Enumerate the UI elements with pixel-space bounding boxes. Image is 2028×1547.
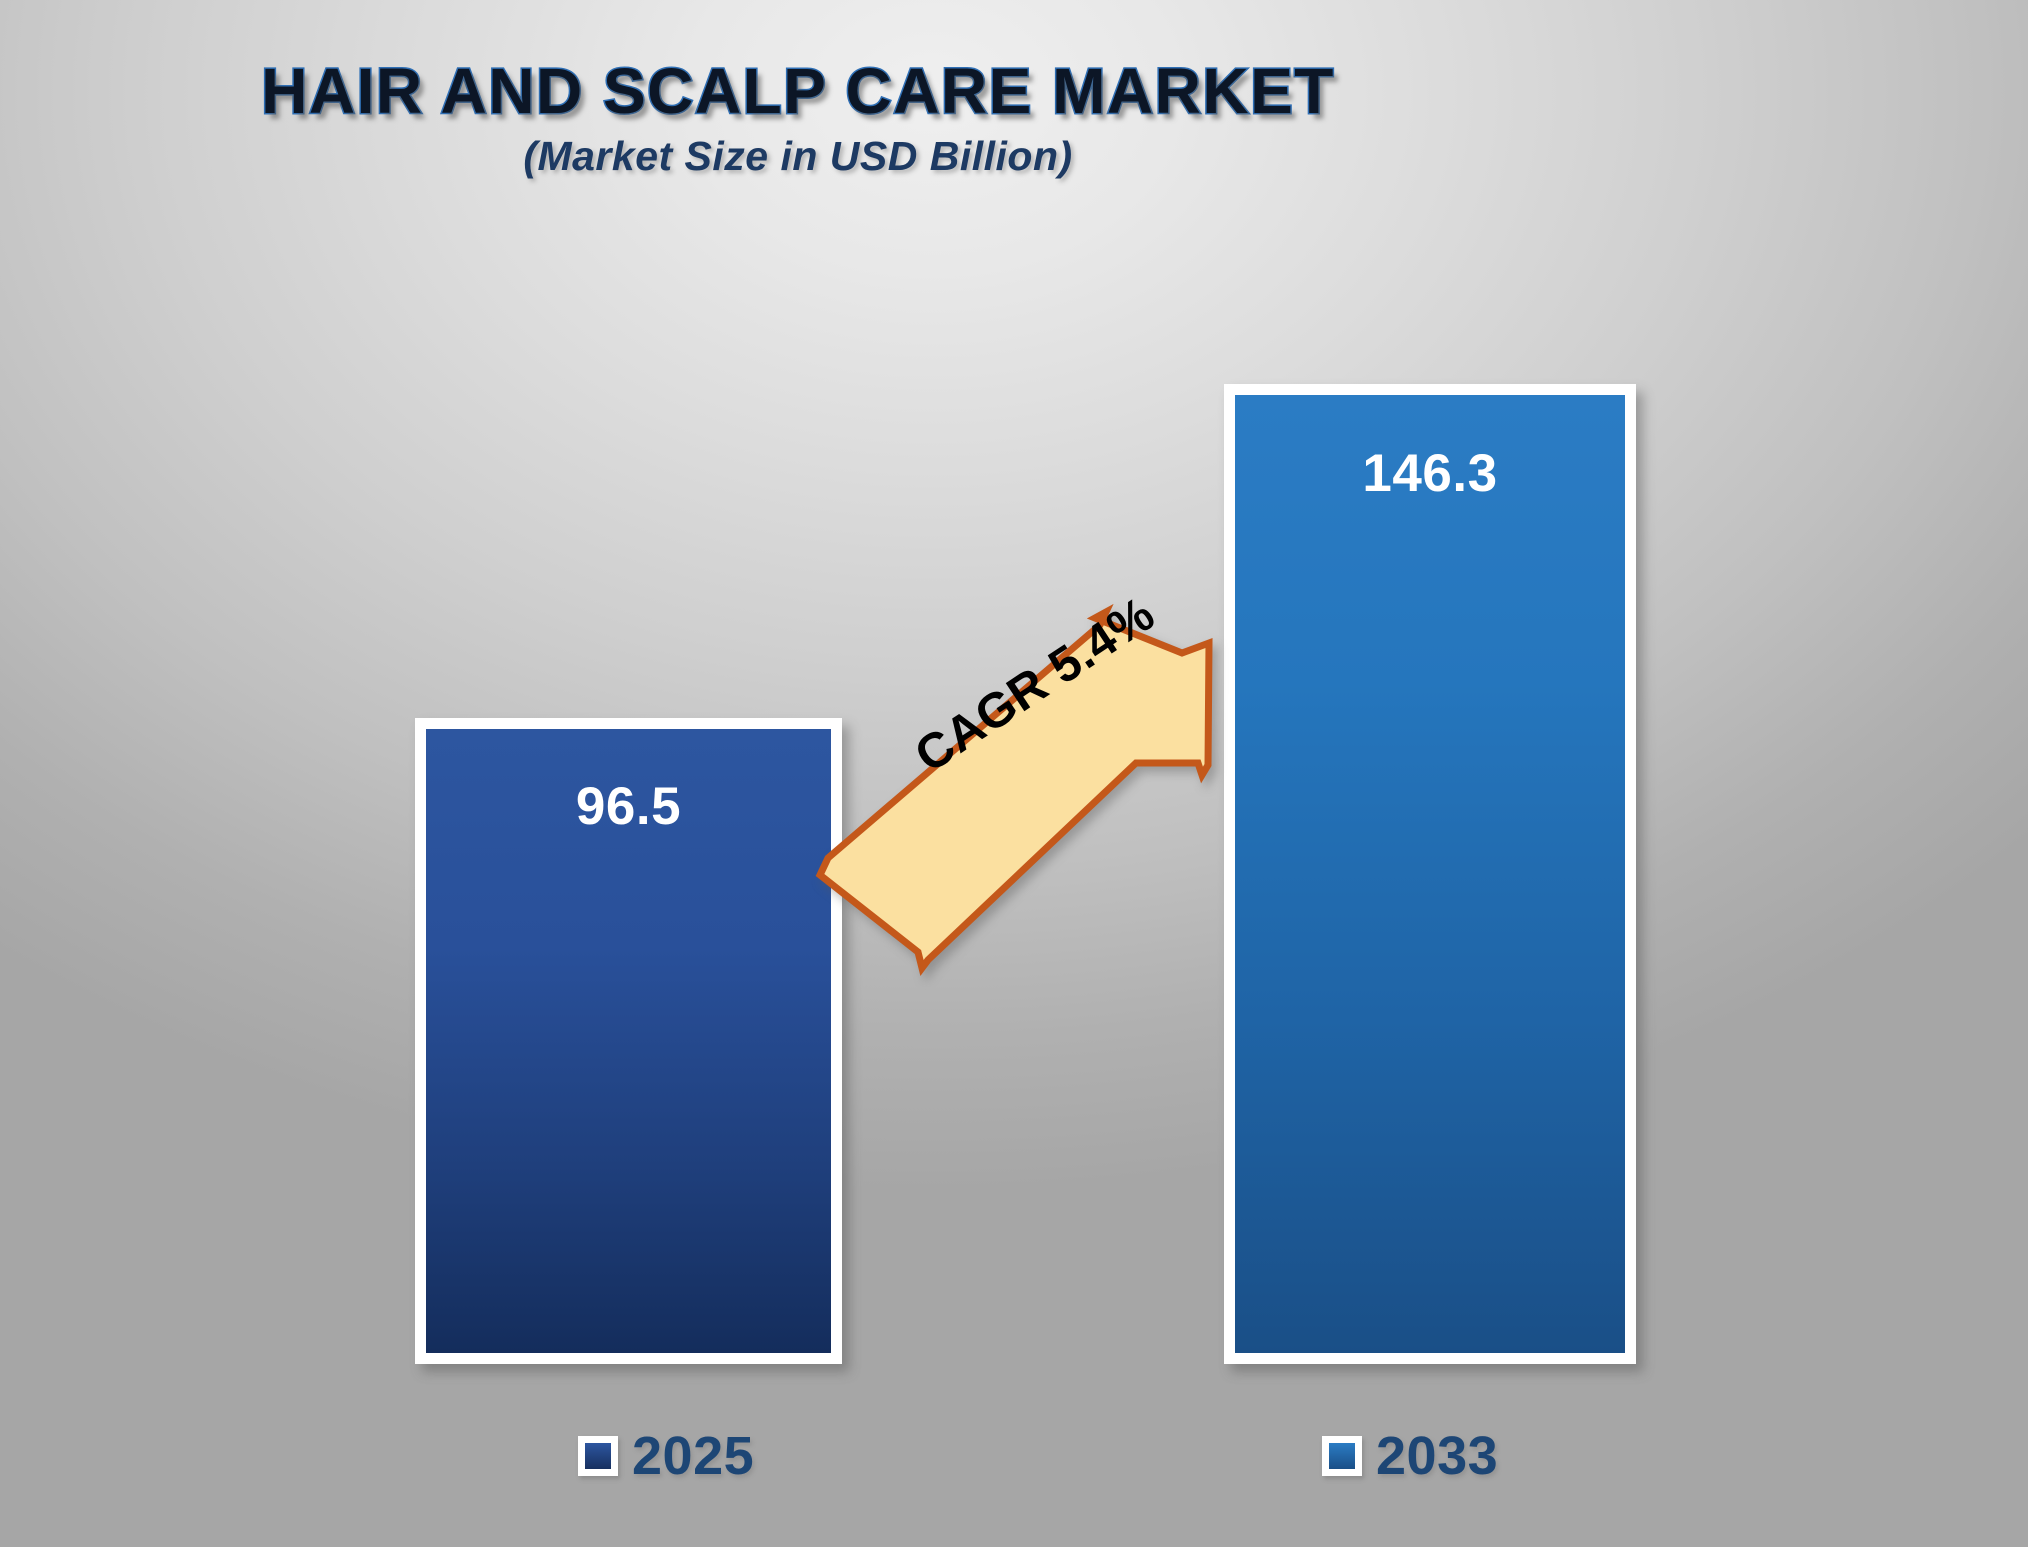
- legend-item-2025[interactable]: 2025: [578, 1425, 754, 1487]
- cagr-label: CAGR 5.4%: [841, 526, 1230, 844]
- cagr-arrow-icon: [810, 590, 1290, 970]
- bar-value-2033: 146.3: [1235, 443, 1625, 504]
- bar-2033[interactable]: 146.3: [1224, 384, 1636, 1364]
- legend-label-2033: 2033: [1376, 1425, 1498, 1487]
- legend-item-2033[interactable]: 2033: [1322, 1425, 1498, 1487]
- chart-canvas: HAIR AND SCALP CARE MARKET (Market Size …: [0, 0, 2028, 1547]
- chart-legend: 2025 2033: [0, 1425, 2028, 1495]
- legend-swatch-icon-2025: [578, 1436, 618, 1476]
- legend-label-2025: 2025: [632, 1425, 754, 1487]
- bar-value-2025: 96.5: [426, 776, 831, 837]
- plot-area: 96.5 146.3 CAGR 5.4%: [0, 0, 2028, 1547]
- legend-swatch-icon-2033: [1322, 1436, 1362, 1476]
- bar-2025[interactable]: 96.5: [415, 718, 842, 1364]
